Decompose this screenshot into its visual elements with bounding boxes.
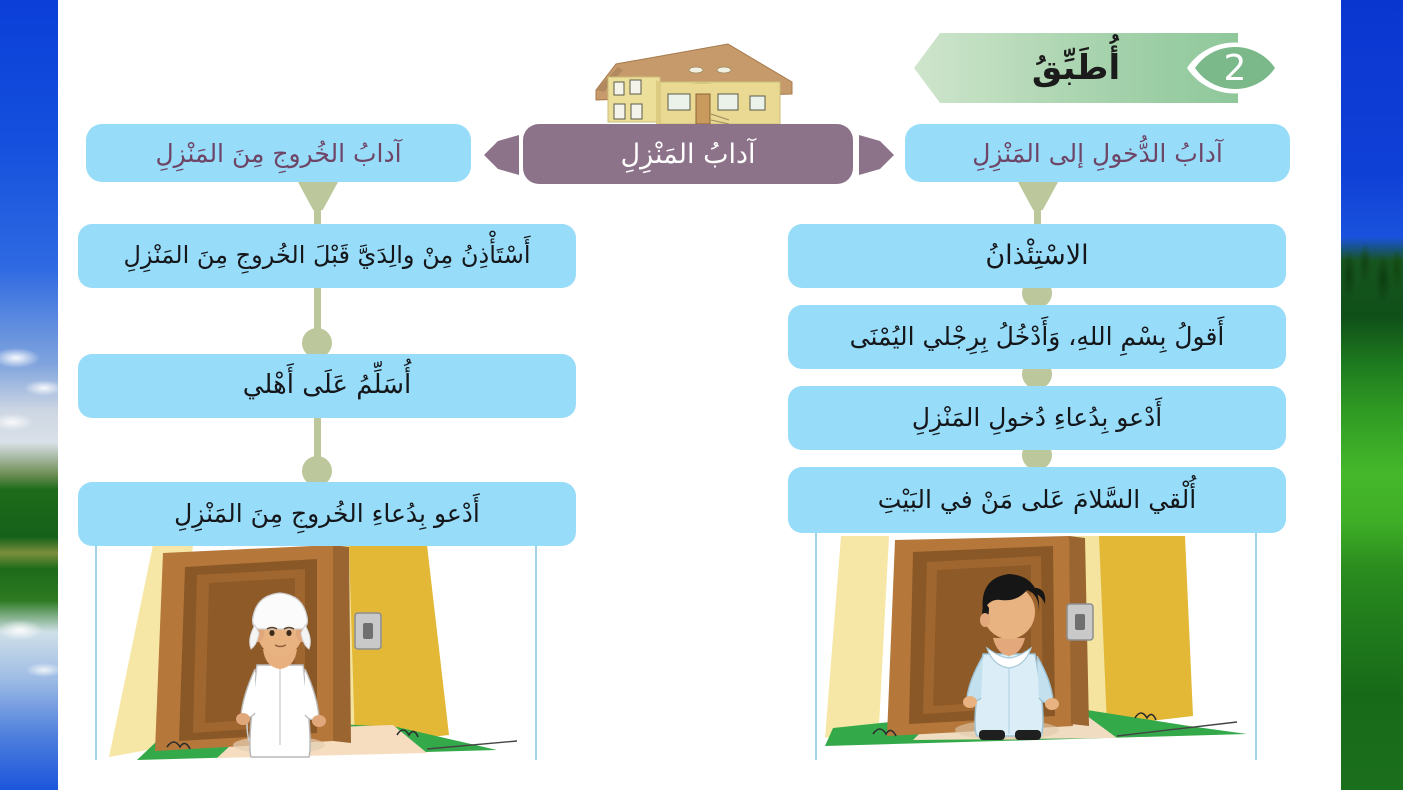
- right-background-photo-strip: [1341, 0, 1403, 790]
- step-label-entering-0: الاسْتِئْذانُ: [985, 240, 1088, 271]
- branch-head-leaving[interactable]: آدابُ الخُروجِ مِنَ المَنْزِلِ: [86, 124, 471, 182]
- left-arrow-icon: [484, 135, 519, 175]
- branch-head-leaving-label: آدابُ الخُروجِ مِنَ المَنْزِلِ: [155, 139, 401, 168]
- step-label-leaving-0: أَسْتَأْذِنُ مِنْ والِدَيَّ قَبْلَ الخُر…: [123, 242, 530, 270]
- house-illustration: [578, 22, 808, 132]
- cloud-decoration-lower: [0, 600, 58, 750]
- step-label-entering-2: أَدْعو بِدُعاءِ دُخولِ المَنْزِلِ: [912, 404, 1162, 433]
- step-box-leaving-1[interactable]: أُسَلِّمُ عَلَى أَهْلي: [78, 354, 576, 418]
- step-label-entering-1: أَقولُ بِسْمِ اللهِ، وَأَدْخُلُ بِرِجْلي…: [850, 323, 1225, 352]
- step-label-entering-3: أُلْقي السَّلامَ عَلى مَنْ في البَيْتِ: [878, 486, 1196, 515]
- branch-head-entering[interactable]: آدابُ الدُّخولِ إلى المَنْزِلِ: [905, 124, 1290, 182]
- section-number-label: 2: [1183, 30, 1287, 106]
- step-box-leaving-2[interactable]: أَدْعو بِدُعاءِ الخُروجِ مِنَ المَنْزِلِ: [78, 482, 576, 546]
- step-box-entering-0[interactable]: الاسْتِئْذانُ: [788, 224, 1286, 288]
- central-topic-label: آدابُ المَنْزِلِ: [620, 139, 755, 170]
- illustration-boy-leaving: [95, 545, 537, 760]
- slide-canvas: أُطَبِّقُ 2 آدابُ المَنْزِلِ آدابُ الدُّ…: [0, 0, 1403, 790]
- branch-head-entering-label: آدابُ الدُّخولِ إلى المَنْزِلِ: [972, 139, 1223, 168]
- cloud-decoration: [0, 330, 58, 470]
- step-box-entering-1[interactable]: أَقولُ بِسْمِ اللهِ، وَأَدْخُلُ بِرِجْلي…: [788, 305, 1286, 369]
- tree-line-decoration: [1341, 235, 1403, 425]
- content-page: أُطَبِّقُ 2 آدابُ المَنْزِلِ آدابُ الدُّ…: [58, 0, 1323, 790]
- step-box-entering-3[interactable]: أُلْقي السَّلامَ عَلى مَنْ في البَيْتِ: [788, 467, 1286, 533]
- step-box-entering-2[interactable]: أَدْعو بِدُعاءِ دُخولِ المَنْزِلِ: [788, 386, 1286, 450]
- boy-leaving-house-illustration: [97, 545, 537, 760]
- illustration-boy-entering: [815, 530, 1257, 760]
- boy-entering-house-illustration: [817, 530, 1257, 760]
- step-box-leaving-0[interactable]: أَسْتَأْذِنُ مِنْ والِدَيَّ قَبْلَ الخُر…: [78, 224, 576, 288]
- left-background-photo-strip: [0, 0, 58, 790]
- step-label-leaving-2: أَدْعو بِدُعاءِ الخُروجِ مِنَ المَنْزِلِ: [174, 500, 480, 529]
- right-arrow-icon: [859, 135, 894, 175]
- central-topic-box[interactable]: آدابُ المَنْزِلِ: [523, 124, 853, 184]
- step-label-leaving-1: أُسَلِّمُ عَلَى أَهْلي: [243, 371, 411, 401]
